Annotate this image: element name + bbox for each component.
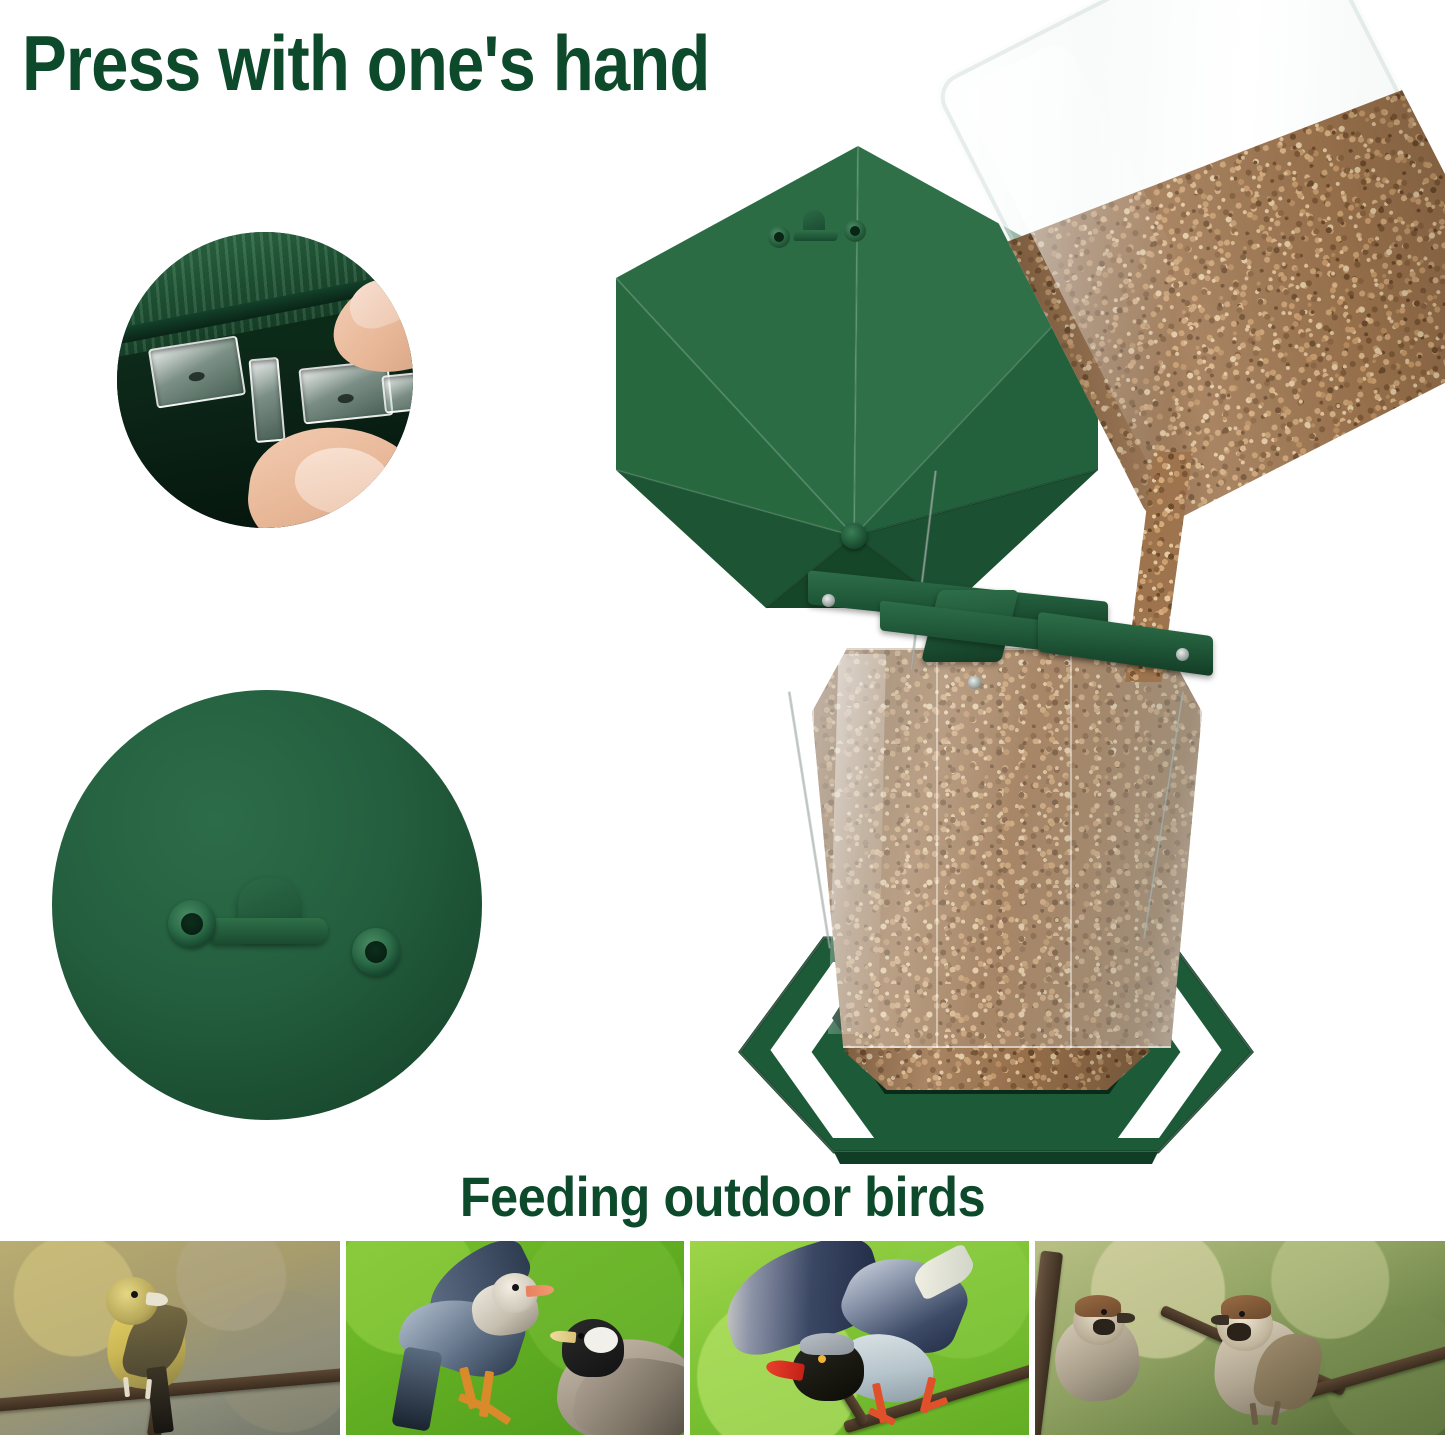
screw-icon	[1176, 648, 1189, 661]
bird-eye	[512, 1284, 519, 1291]
bird-head-crown	[800, 1333, 854, 1355]
roof-grommet-right	[844, 220, 866, 242]
bird-head-cap	[1075, 1295, 1121, 1317]
roof-grommet-left	[768, 226, 790, 248]
bird-head-bib	[1093, 1319, 1115, 1335]
clear-seed-refill-container	[1046, 0, 1445, 496]
bird-head-cheek-patch	[584, 1327, 618, 1353]
product-hero	[0, 0, 1445, 1200]
bird-beak	[1117, 1313, 1135, 1323]
hopper-seam	[936, 648, 938, 1048]
bird-photo-greenfinch	[0, 1241, 340, 1435]
bird-photo-strip	[0, 1241, 1445, 1435]
bird-eye	[1101, 1309, 1107, 1315]
roof-hanging-tab-lip	[793, 230, 839, 241]
bird-eye	[1239, 1311, 1245, 1317]
bird-beak	[1211, 1315, 1229, 1325]
bird-eye	[131, 1291, 138, 1298]
bird-head-bib	[1227, 1323, 1251, 1341]
hopper-seam	[1070, 648, 1072, 1048]
screw-icon	[822, 594, 835, 607]
product-marketing-image: Press with one's hand	[0, 0, 1445, 1435]
green-clamp-mechanism	[800, 572, 1220, 702]
bird-photo-starlings	[346, 1241, 685, 1435]
clamp-bar	[1038, 612, 1213, 677]
bird-eye	[578, 1333, 584, 1339]
bird-photo-blue-magpie	[690, 1241, 1029, 1435]
section-caption: Feeding outdoor birds	[72, 1164, 1373, 1229]
screw-icon	[968, 676, 981, 689]
clear-seed-hopper	[812, 648, 1202, 1048]
bird-photo-tree-sparrows	[1035, 1241, 1445, 1435]
roof-center-hub	[841, 523, 867, 549]
